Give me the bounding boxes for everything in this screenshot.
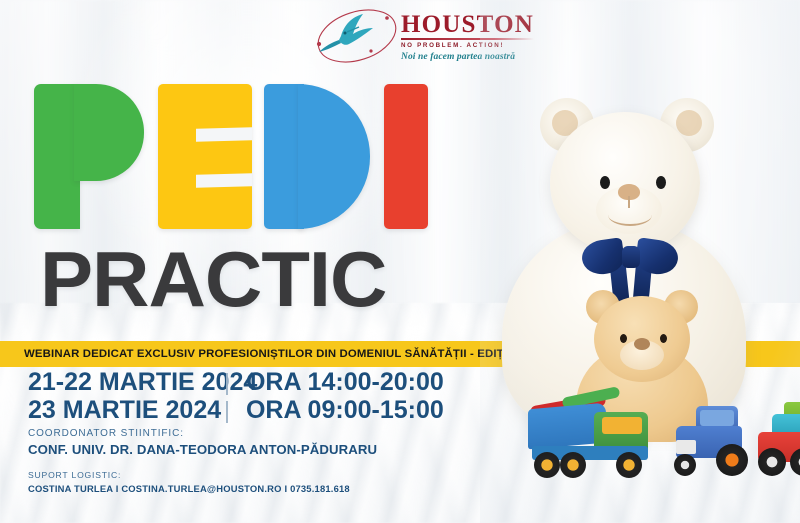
coordinator-name: CONF. UNIV. DR. DANA-TEODORA ANTON-PĂDUR…: [28, 442, 377, 457]
pedi-letter-p: [34, 84, 144, 229]
webinar-banner-text: WEBINAR DEDICAT EXCLUSIV PROFESIONIȘTILO…: [24, 348, 526, 360]
toy-vehicles-group: [520, 386, 800, 496]
credits-block: COORDONATOR STIINTIFIC: CONF. UNIV. DR. …: [28, 428, 377, 494]
schedule-date: 23 MARTIE 2024: [28, 398, 224, 424]
practic-wordmark: PRACTIC: [40, 240, 386, 318]
schedule-row: 21-22 MARTIE 2024 | ORA 14:00-20:00: [28, 370, 444, 396]
poster-canvas: HOUSTON NO PROBLEM. ACTION! Noi ne facem…: [0, 0, 800, 523]
support-label: SUPORT LOGISTIC:: [28, 470, 377, 480]
support-block: SUPORT LOGISTIC: COSTINA TURLEA I COSTIN…: [28, 470, 377, 494]
red-green-tractor-toy: [758, 402, 800, 478]
blue-green-dump-truck-toy: [528, 392, 656, 478]
schedule-time: ORA 14:00-20:00: [230, 370, 444, 396]
coordinator-label: COORDONATOR STIINTIFIC:: [28, 428, 377, 439]
support-contact: COSTINA TURLEA I COSTINA.TURLEA@HOUSTON.…: [28, 483, 377, 494]
pedi-wordmark: [34, 84, 454, 229]
blue-tractor-toy: [672, 404, 750, 478]
hummingbird-icon: [311, 6, 399, 64]
schedule-time: ORA 09:00-15:00: [230, 398, 444, 424]
schedule-block: 21-22 MARTIE 2024 | ORA 14:00-20:00 23 M…: [28, 370, 444, 423]
schedule-row: 23 MARTIE 2024 | ORA 09:00-15:00: [28, 398, 444, 424]
pedi-letter-e: [158, 84, 252, 229]
pedi-letter-i: [384, 84, 428, 229]
schedule-date: 21-22 MARTIE 2024: [28, 370, 224, 396]
pedi-letter-d: [264, 84, 370, 229]
